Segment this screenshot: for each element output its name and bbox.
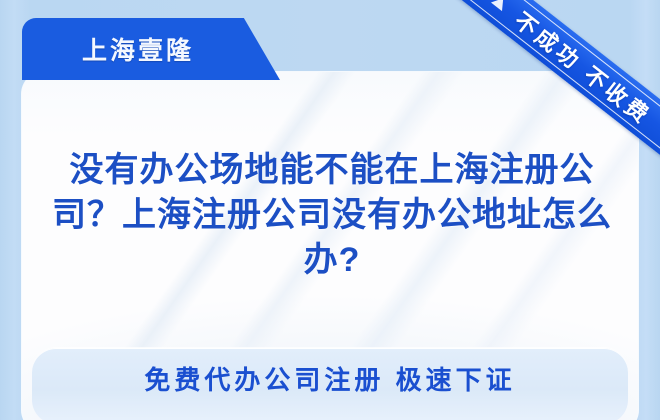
cta-bar-label: 免费代办公司注册 极速下证 xyxy=(144,360,515,397)
triangle-up-icon xyxy=(491,0,509,11)
promo-poster: 上海壹隆 不成功 不收费 没有办公场地能不能在上海注册公司？上海注册公司没有办公… xyxy=(0,0,660,420)
brand-tab-label: 上海壹隆 xyxy=(22,18,254,80)
cta-bar[interactable]: 免费代办公司注册 极速下证 xyxy=(32,348,628,420)
page-title: 没有办公场地能不能在上海注册公司？上海注册公司没有办公地址怎么办? xyxy=(48,148,616,283)
brand-tab[interactable]: 上海壹隆 xyxy=(22,18,280,80)
